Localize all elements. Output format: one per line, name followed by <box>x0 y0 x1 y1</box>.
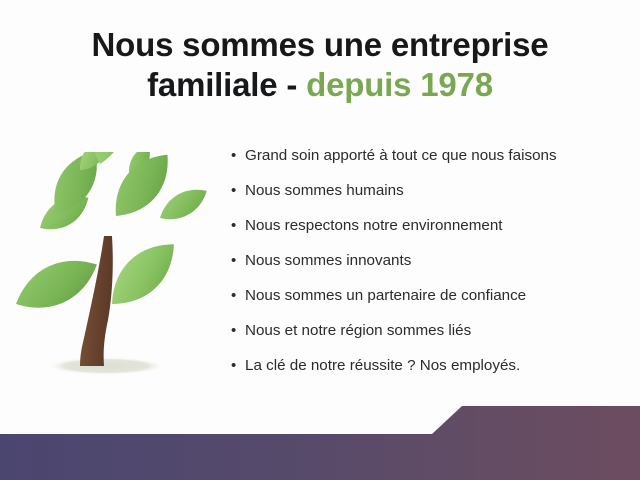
slide-canvas: Nous sommes une entreprise familiale - d… <box>0 0 640 480</box>
list-item-label: Nous sommes un partenaire de confiance <box>245 286 526 306</box>
list-item: • La clé de notre réussite ? Nos employé… <box>231 356 631 391</box>
bullet-icon: • <box>231 356 245 376</box>
list-item: • Nous sommes innovants <box>231 251 631 286</box>
benefits-list: • Grand soin apporté à tout ce que nous … <box>231 146 631 391</box>
tree-illustration <box>8 152 208 384</box>
list-item: • Grand soin apporté à tout ce que nous … <box>231 146 631 181</box>
list-item-label: Nous et notre région sommes liés <box>245 321 471 341</box>
page-title: Nous sommes une entreprise familiale - d… <box>0 26 640 103</box>
list-item: • Nous respectons notre environnement <box>231 216 631 251</box>
tree-graphic <box>8 152 208 384</box>
list-item: • Nous sommes humains <box>231 181 631 216</box>
tree-trunk <box>80 236 113 366</box>
list-item-label: Grand soin apporté à tout ce que nous fa… <box>245 146 557 166</box>
title-line-2: familiale - depuis 1978 <box>0 66 640 104</box>
bullet-icon: • <box>231 146 245 166</box>
bullet-icon: • <box>231 181 245 201</box>
list-item-label: La clé de notre réussite ? Nos employés. <box>245 356 520 376</box>
list-item: • Nous sommes un partenaire de confiance <box>231 286 631 321</box>
bullet-icon: • <box>231 286 245 306</box>
list-item-label: Nous sommes humains <box>245 181 404 201</box>
title-line-2-main: familiale - <box>147 66 306 103</box>
bullet-icon: • <box>231 321 245 341</box>
banner-shape <box>0 400 640 480</box>
title-accent-year: depuis 1978 <box>306 66 493 103</box>
bullet-icon: • <box>231 251 245 271</box>
bullet-icon: • <box>231 216 245 236</box>
list-item-label: Nous respectons notre environnement <box>245 216 503 236</box>
tree-shadow <box>46 357 166 375</box>
list-item-label: Nous sommes innovants <box>245 251 411 271</box>
list-item: • Nous et notre région sommes liés <box>231 321 631 356</box>
footer-banner: tabor-automobiles.fr <box>0 400 640 480</box>
title-line-1: Nous sommes une entreprise <box>0 26 640 64</box>
